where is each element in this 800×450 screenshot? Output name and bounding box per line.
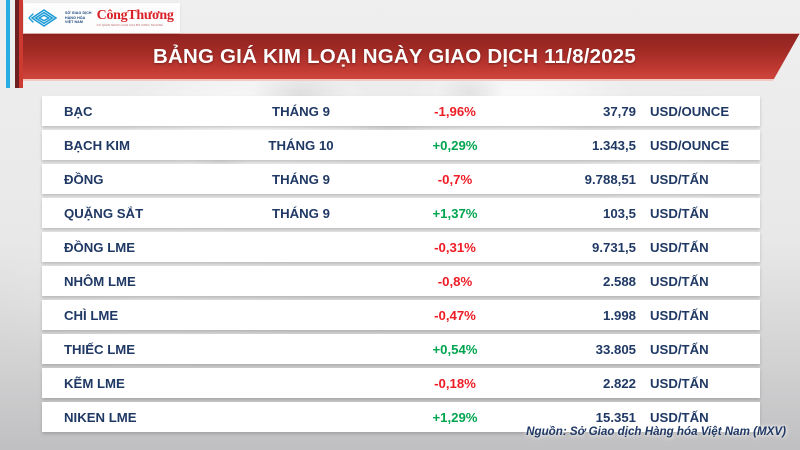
metal-name: CHÌ LME xyxy=(42,308,220,323)
table-row: KẼM LME-0,18%2.822USD/TẤN xyxy=(42,368,760,398)
price-value: 9.731,5 xyxy=(528,240,636,255)
contract-month: THÁNG 10 xyxy=(220,138,382,153)
price-value: 9.788,51 xyxy=(528,172,636,187)
price-value: 2.822 xyxy=(528,376,636,391)
metal-name: KẼM LME xyxy=(42,376,220,391)
change-percent: -1,96% xyxy=(382,104,528,119)
publisher-name: CôngThương xyxy=(97,9,174,23)
price-table: BẠCTHÁNG 9-1,96%37,79USD/OUNCEBẠCH KIMTH… xyxy=(42,96,760,436)
price-value: 103,5 xyxy=(528,206,636,221)
table-row: ĐỒNG LME-0,31%9.731,5USD/TẤN xyxy=(42,232,760,262)
metal-name: THIẾC LME xyxy=(42,342,220,357)
logo-card: SỞ GIAO DỊCH HÀNG HÓA VIỆT NAM CôngThươn… xyxy=(24,3,180,33)
table-row: CHÌ LME-0,47%1.998USD/TẤN xyxy=(42,300,760,330)
change-percent: +1,29% xyxy=(382,410,528,425)
logo-org-text: SỞ GIAO DỊCH HÀNG HÓA VIỆT NAM xyxy=(62,11,92,25)
change-percent: +0,54% xyxy=(382,342,528,357)
price-unit: USD/TẤN xyxy=(636,274,760,289)
price-unit: USD/TẤN xyxy=(636,410,760,425)
logo-org-line3: VIỆT NAM xyxy=(65,20,92,25)
change-percent: -0,7% xyxy=(382,172,528,187)
price-unit: USD/TẤN xyxy=(636,172,760,187)
change-percent: -0,8% xyxy=(382,274,528,289)
publisher-tagline: CO QUAN NGON LUAN CUA BO CONG THUONG xyxy=(97,24,174,27)
metal-name: BẠC xyxy=(42,104,220,119)
change-percent: -0,47% xyxy=(382,308,528,323)
change-percent: +0,29% xyxy=(382,138,528,153)
table-row: BẠCTHÁNG 9-1,96%37,79USD/OUNCE xyxy=(42,96,760,126)
source-note: Nguồn: Sở Giao dịch Hàng hóa Việt Nam (M… xyxy=(526,425,786,438)
table-row: NHÔM LME-0,8%2.588USD/TẤN xyxy=(42,266,760,296)
price-value: 15.351 xyxy=(528,410,636,425)
price-value: 1.343,5 xyxy=(528,138,636,153)
metal-name: ĐỒNG LME xyxy=(42,240,220,255)
contract-month: THÁNG 9 xyxy=(220,206,382,221)
change-percent: -0,18% xyxy=(382,376,528,391)
table-row: QUẶNG SẮTTHÁNG 9+1,37%103,5USD/TẤN xyxy=(42,198,760,228)
price-unit: USD/TẤN xyxy=(636,240,760,255)
price-unit: USD/TẤN xyxy=(636,206,760,221)
price-value: 37,79 xyxy=(528,104,636,119)
table-row: ĐỒNGTHÁNG 9-0,7%9.788,51USD/TẤN xyxy=(42,164,760,194)
price-unit: USD/OUNCE xyxy=(636,138,760,153)
metal-price-board: SỞ GIAO DỊCH HÀNG HÓA VIỆT NAM CôngThươn… xyxy=(0,0,800,450)
table-row: THIẾC LME+0,54%33.805USD/TẤN xyxy=(42,334,760,364)
title-banner: BẢNG GIÁ KIM LOẠI NGÀY GIAO DỊCH 11/8/20… xyxy=(23,33,800,81)
accent-stripe-maroon xyxy=(15,0,19,88)
metal-name: BẠCH KIM xyxy=(42,138,220,153)
contract-month: THÁNG 9 xyxy=(220,104,382,119)
contract-month: THÁNG 9 xyxy=(220,172,382,187)
accent-stripe-red xyxy=(19,0,23,88)
metal-name: ĐỒNG xyxy=(42,172,220,187)
change-percent: -0,31% xyxy=(382,240,528,255)
metal-name: NIKEN LME xyxy=(42,410,220,425)
price-unit: USD/TẤN xyxy=(636,376,760,391)
price-value: 2.588 xyxy=(528,274,636,289)
price-value: 33.805 xyxy=(528,342,636,357)
table-row: BẠCH KIMTHÁNG 10+0,29%1.343,5USD/OUNCE xyxy=(42,130,760,160)
price-unit: USD/TẤN xyxy=(636,342,760,357)
mxv-diamond-logo-icon xyxy=(28,7,62,29)
metal-name: QUẶNG SẮT xyxy=(42,206,220,221)
change-percent: +1,37% xyxy=(382,206,528,221)
price-unit: USD/OUNCE xyxy=(636,104,760,119)
price-value: 1.998 xyxy=(528,308,636,323)
publisher-logo: CôngThương CO QUAN NGON LUAN CUA BO CONG… xyxy=(97,9,174,27)
accent-stripe-cyan xyxy=(6,0,10,88)
page-title: BẢNG GIÁ KIM LOẠI NGÀY GIAO DỊCH 11/8/20… xyxy=(153,45,636,69)
metal-name: NHÔM LME xyxy=(42,274,220,289)
price-unit: USD/TẤN xyxy=(636,308,760,323)
